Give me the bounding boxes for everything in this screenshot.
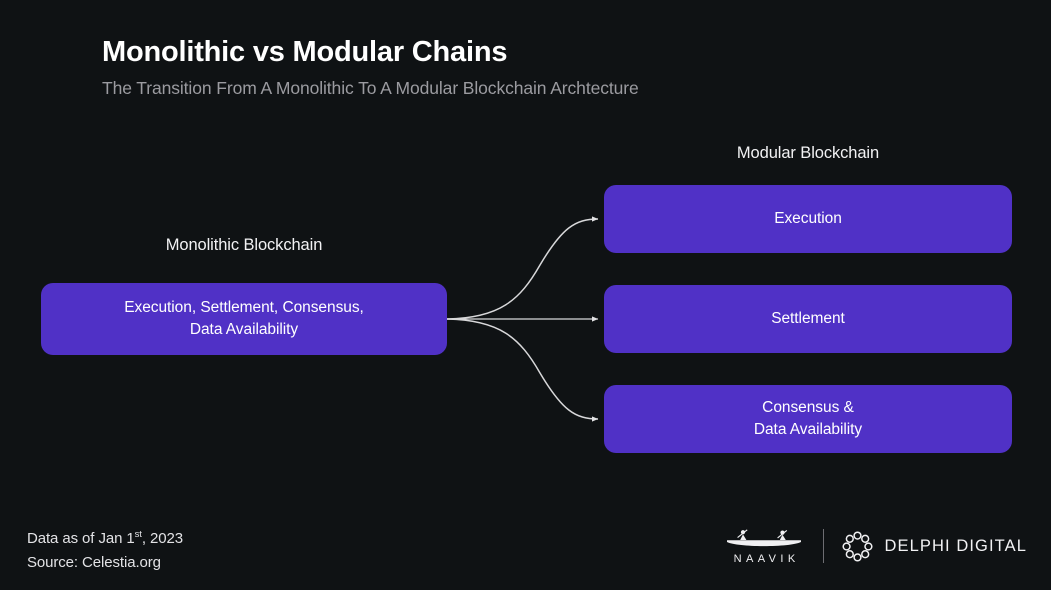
node-monolithic-text: Execution, Settlement, Consensus, Data A…	[124, 297, 364, 341]
node-execution-text: Execution	[774, 208, 842, 230]
delphi-digital-logo: DELPHI DIGITAL	[842, 531, 1027, 562]
naavik-wordmark: NAAVIK	[729, 553, 799, 565]
footer-data-as-of-prefix: Data as of Jan 1	[27, 530, 135, 547]
logo-divider	[823, 529, 824, 563]
footer-data-as-of-suffix: , 2023	[142, 530, 183, 547]
diagram: Monolithic Blockchain Modular Blockchain…	[0, 0, 1051, 590]
footer-data-as-of: Data as of Jan 1st, 2023	[27, 523, 183, 551]
footer-source: Source: Celestia.org	[27, 551, 183, 575]
arrow-to-consensus	[447, 319, 598, 419]
node-consensus-text: Consensus & Data Availability	[754, 397, 862, 441]
node-consensus-line2: Data Availability	[754, 421, 862, 438]
arrow-to-execution	[447, 219, 598, 319]
node-consensus-data-availability[interactable]: Consensus & Data Availability	[604, 385, 1012, 453]
footer-data-as-of-ordinal: st	[135, 529, 142, 540]
slide-canvas: Monolithic vs Modular Chains The Transit…	[0, 0, 1051, 590]
node-settlement-text: Settlement	[771, 308, 845, 330]
footer-logos: NAAVIK DELPHI DIGITAL	[723, 524, 1027, 568]
footer-notes: Data as of Jan 1st, 2023 Source: Celesti…	[27, 523, 183, 575]
delphi-wordmark: DELPHI DIGITAL	[884, 537, 1027, 556]
monolithic-column-label: Monolithic Blockchain	[41, 236, 447, 255]
canoe-icon	[724, 528, 804, 550]
node-execution[interactable]: Execution	[604, 185, 1012, 253]
node-consensus-line1: Consensus &	[762, 399, 854, 416]
naavik-logo: NAAVIK	[723, 528, 805, 565]
node-monolithic-line2: Data Availability	[190, 321, 298, 338]
node-monolithic-line1: Execution, Settlement, Consensus,	[124, 299, 364, 316]
modular-column-label: Modular Blockchain	[604, 144, 1012, 163]
node-monolithic[interactable]: Execution, Settlement, Consensus, Data A…	[41, 283, 447, 355]
delphi-ring-icon	[842, 531, 873, 562]
node-settlement[interactable]: Settlement	[604, 285, 1012, 353]
